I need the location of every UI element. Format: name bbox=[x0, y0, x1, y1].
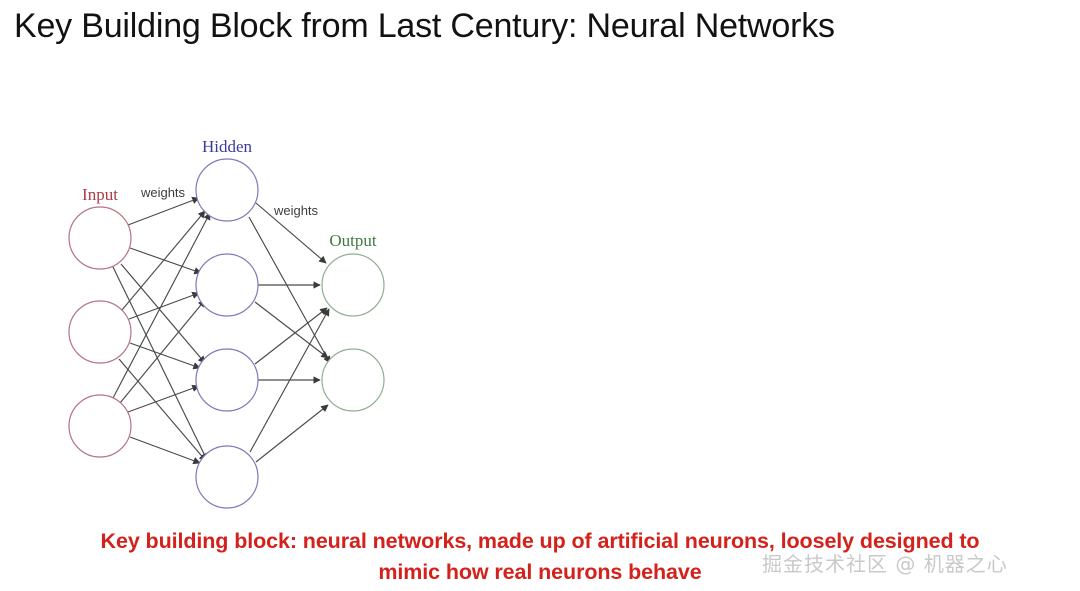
weights-label-input-hidden: weights bbox=[140, 185, 186, 200]
hidden-node-2 bbox=[196, 254, 258, 316]
caption-line-1: Key building block: neural networks, mad… bbox=[0, 526, 1080, 557]
hidden-node-3 bbox=[196, 349, 258, 411]
edges-hidden-to-output bbox=[249, 203, 330, 462]
hidden-node-1 bbox=[196, 159, 258, 221]
input-node-3 bbox=[69, 395, 131, 457]
output-node-1 bbox=[322, 254, 384, 316]
neural-network-diagram: Input Hidden Output weights weights bbox=[0, 110, 460, 520]
output-layer-label: Output bbox=[329, 231, 377, 250]
hidden-layer-label: Hidden bbox=[202, 137, 253, 156]
caption-line-2: mimic how real neurons behave bbox=[0, 557, 1080, 588]
edge-h0-o1 bbox=[249, 217, 330, 363]
slide-caption: Key building block: neural networks, mad… bbox=[0, 526, 1080, 588]
neural-network-svg: Input Hidden Output weights weights bbox=[0, 110, 460, 520]
edge-h2-o0 bbox=[255, 308, 327, 364]
hidden-node-4 bbox=[196, 446, 258, 508]
input-node-2 bbox=[69, 301, 131, 363]
input-layer-nodes bbox=[69, 207, 131, 457]
input-layer-label: Input bbox=[82, 185, 118, 204]
output-node-2 bbox=[322, 349, 384, 411]
edge-i0-h0 bbox=[128, 198, 199, 225]
page-title: Key Building Block from Last Century: Ne… bbox=[14, 2, 835, 50]
edge-i2-h1 bbox=[120, 300, 205, 403]
edge-h3-o1 bbox=[256, 405, 328, 462]
edge-i0-h1 bbox=[130, 248, 201, 273]
input-node-1 bbox=[69, 207, 131, 269]
hidden-layer-nodes bbox=[196, 159, 258, 508]
edge-i2-h2 bbox=[128, 386, 199, 412]
weights-label-hidden-output: weights bbox=[273, 203, 319, 218]
output-layer-nodes bbox=[322, 254, 384, 411]
edge-i0-h2 bbox=[121, 264, 205, 363]
